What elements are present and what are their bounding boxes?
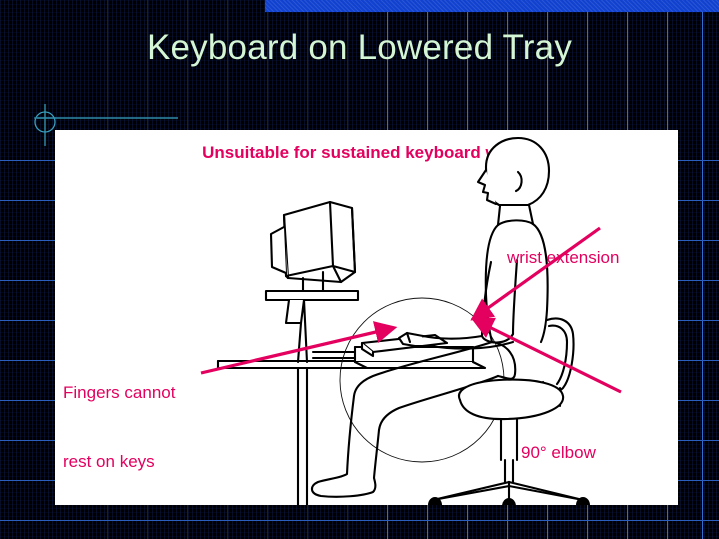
arrow-fingers-cannot-rest xyxy=(201,328,393,373)
page-title: Keyboard on Lowered Tray xyxy=(0,26,719,70)
callout-line: rest on keys xyxy=(63,450,175,473)
content-panel: Unsuitable for sustained keyboard work: xyxy=(55,130,678,505)
grid-vline xyxy=(702,0,703,539)
grid-hline xyxy=(0,520,719,521)
accent-bar-texture xyxy=(265,0,719,12)
callout-wrist-extension: wrist extension xyxy=(507,200,619,315)
callout-line: Fingers cannot xyxy=(63,381,175,404)
slide-canvas: Keyboard on Lowered Tray Unsuitable for … xyxy=(0,0,719,539)
callout-line: wrist extension xyxy=(507,246,619,269)
arrow-elbow-angle xyxy=(475,320,621,392)
callout-line: 90° elbow xyxy=(521,441,596,464)
callout-elbow-angle: 90° elbow angle xyxy=(521,395,596,505)
callout-fingers-cannot-rest: Fingers cannot rest on keys xyxy=(63,335,175,505)
top-accent-bar xyxy=(265,0,719,12)
